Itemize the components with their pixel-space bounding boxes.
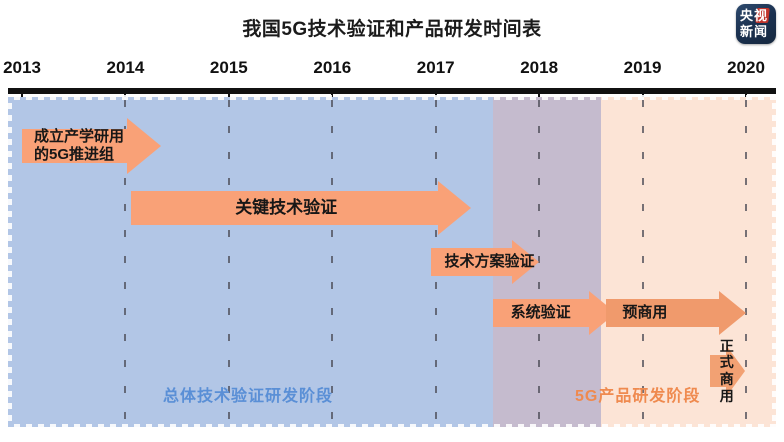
timeline-axis-bar — [8, 88, 776, 94]
phase-band-2 — [601, 97, 776, 427]
band-edge-1 — [8, 424, 776, 429]
arrow-head-4 — [719, 291, 746, 335]
year-label-2014: 2014 — [107, 58, 145, 78]
year-label-2018: 2018 — [520, 58, 558, 78]
page-title: 我国5G技术验证和产品研发时间表 — [0, 14, 784, 41]
phase-caption-product-rnd: 5G产品研发阶段 — [575, 382, 700, 406]
year-label-2017: 2017 — [417, 58, 455, 78]
band-edge-2 — [7, 97, 12, 427]
band-edge-3 — [772, 97, 777, 427]
arrow-label-0: 成立产学研用 的5G推进组 — [22, 128, 124, 163]
arrow-label-3: 系统验证 — [493, 304, 571, 322]
gridline-2015 — [228, 100, 230, 424]
task-arrow-3: 系统验证 — [493, 291, 617, 335]
phase-caption-overall-verification: 总体技术验证研发阶段 — [163, 382, 333, 406]
task-arrow-5: 正式 商用 — [710, 345, 746, 397]
arrow-label-4: 预商用 — [606, 304, 667, 322]
year-label-2016: 2016 — [313, 58, 351, 78]
gridline-2016 — [331, 100, 333, 424]
task-arrow-4: 预商用 — [606, 291, 746, 335]
task-arrow-2: 技术方案验证 — [431, 240, 540, 284]
task-arrow-1: 关键技术验证 — [131, 181, 472, 235]
logo-text-line1: 央视 — [740, 8, 772, 24]
year-label-2013: 2013 — [3, 58, 41, 78]
band-edge-0 — [8, 95, 776, 100]
year-label-2020: 2020 — [727, 58, 765, 78]
year-label-2019: 2019 — [624, 58, 662, 78]
task-arrow-0: 成立产学研用 的5G推进组 — [22, 118, 162, 174]
arrow-head-0 — [127, 118, 161, 174]
arrow-label-2: 技术方案验证 — [431, 253, 535, 271]
logo-text-line2: 新闻 — [740, 24, 772, 40]
cctv-news-logo: 央视 新闻 — [736, 4, 776, 44]
arrow-label-1: 关键技术验证 — [131, 198, 472, 218]
arrow-label-5: 正式 商用 — [710, 338, 746, 404]
year-label-2015: 2015 — [210, 58, 248, 78]
gridline-2019 — [642, 100, 644, 424]
timeline-infographic: 我国5G技术验证和产品研发时间表 央视 新闻 20132014201520162… — [0, 0, 784, 442]
